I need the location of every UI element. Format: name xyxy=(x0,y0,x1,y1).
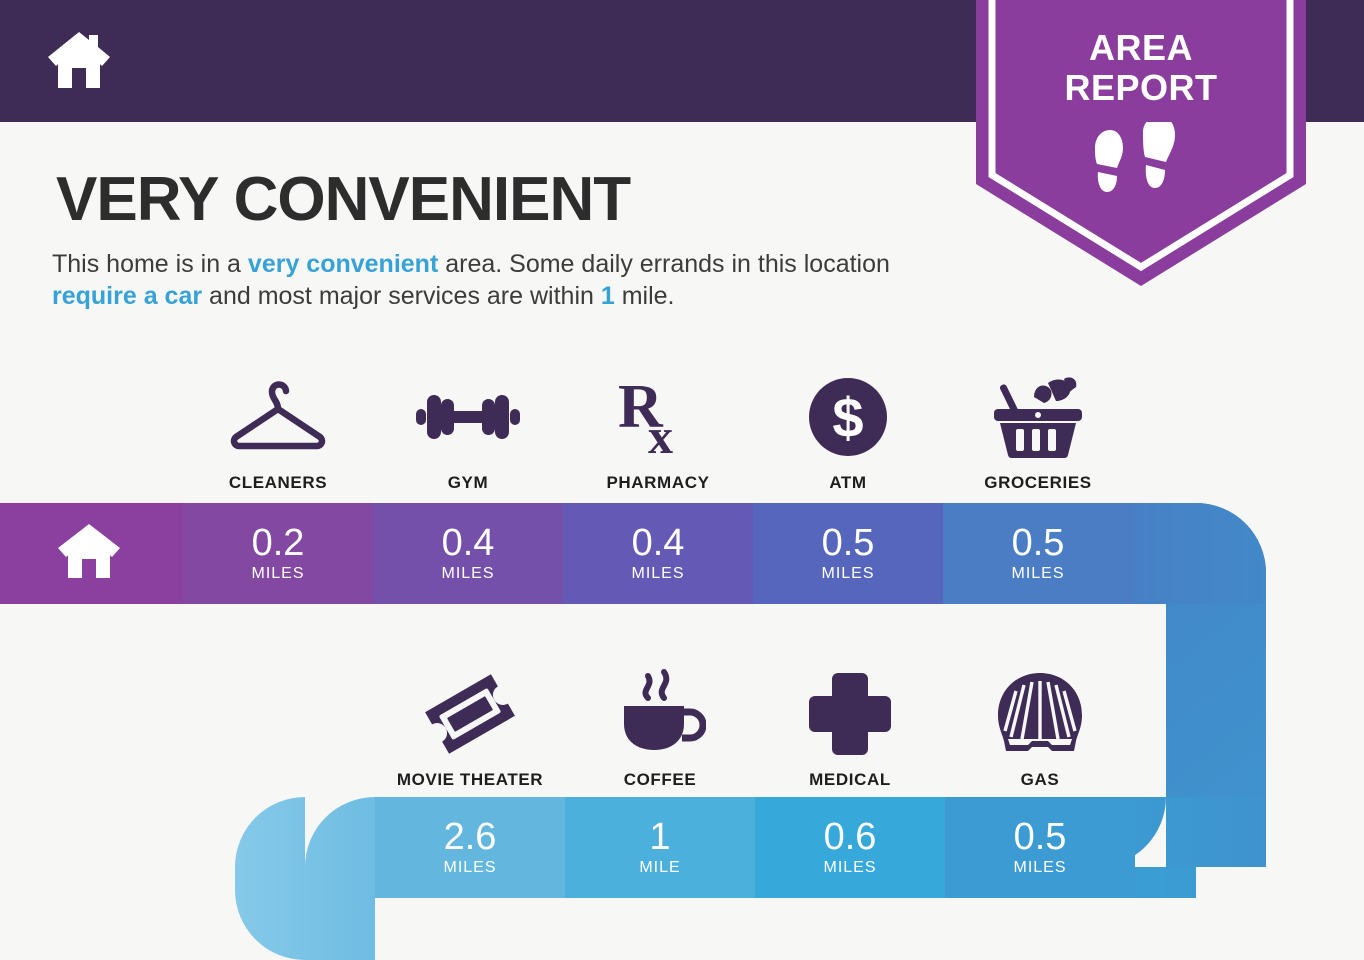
coffee-icon xyxy=(614,668,706,760)
icon-label: CLEANERS xyxy=(229,473,327,493)
ticket-icon xyxy=(422,668,518,760)
dollar-icon: $ xyxy=(807,371,889,463)
icon-label: PHARMACY xyxy=(606,473,709,493)
subtitle-text: This home is in a xyxy=(52,250,248,278)
dumbbell-icon xyxy=(414,371,522,463)
hanger-icon xyxy=(228,371,328,463)
distance-cell-medical[interactable]: 0.6 MILES xyxy=(755,797,945,898)
icon-cell-cleaners[interactable]: CLEANERS xyxy=(183,358,373,493)
icon-label: GROCERIES xyxy=(984,473,1091,493)
icon-row-bottom: MOVIE THEATER COFFEE MEDICAL xyxy=(375,650,1135,790)
icon-cell-coffee[interactable]: COFFEE xyxy=(565,650,755,790)
distance-value: 0.6 xyxy=(824,818,877,856)
distance-value: 0.5 xyxy=(1012,524,1065,562)
icon-cell-pharmacy[interactable]: R x PHARMACY xyxy=(563,358,753,493)
shell-icon xyxy=(996,668,1084,760)
svg-text:$: $ xyxy=(832,386,863,449)
icon-cell-groceries[interactable]: GROCERIES xyxy=(943,358,1133,493)
distance-cell-groceries[interactable]: 0.5 MILES xyxy=(943,503,1133,604)
badge-title-line: AREA xyxy=(1089,27,1193,68)
subtitle-text: and most major services are within xyxy=(202,282,601,310)
distance-cell-atm[interactable]: 0.5 MILES xyxy=(753,503,943,604)
icon-label: GYM xyxy=(448,473,489,493)
distance-value: 0.4 xyxy=(632,524,685,562)
svg-text:x: x xyxy=(648,408,673,459)
distance-value: 1 xyxy=(649,818,670,856)
footprints-icon xyxy=(1081,122,1201,212)
distance-cell-cleaners[interactable]: 0.2 MILES xyxy=(183,503,373,604)
icon-label: MEDICAL xyxy=(809,770,891,790)
distance-value: 2.6 xyxy=(444,818,497,856)
distance-value: 0.5 xyxy=(1014,818,1067,856)
basket-icon xyxy=(990,371,1086,463)
distance-row-top: 0.2 MILES 0.4 MILES 0.4 MILES 0.5 MILES … xyxy=(183,503,1143,604)
icon-cell-movie-theater[interactable]: MOVIE THEATER xyxy=(375,650,565,790)
distance-row-bottom: 2.6 MILES 1 MILE 0.6 MILES 0.5 MILES xyxy=(375,797,1135,898)
page-subtitle: This home is in a very convenient area. … xyxy=(52,248,962,312)
distance-cell-gym[interactable]: 0.4 MILES xyxy=(373,503,563,604)
badge-title-line: REPORT xyxy=(1064,67,1217,108)
distance-cell-gas[interactable]: 0.5 MILES xyxy=(945,797,1135,898)
icon-cell-gym[interactable]: GYM xyxy=(373,358,563,493)
icon-label: ATM xyxy=(829,473,866,493)
icon-row-top: CLEANERS GYM R x PH xyxy=(183,358,1143,493)
distance-unit: MILES xyxy=(1013,858,1066,878)
rx-icon: R x xyxy=(614,371,702,463)
distance-unit: MILES xyxy=(631,564,684,584)
icon-label: GAS xyxy=(1021,770,1060,790)
subtitle-text: area. Some daily errands in this locatio… xyxy=(438,250,890,278)
distance-cell-pharmacy[interactable]: 0.4 MILES xyxy=(563,503,753,604)
subtitle-highlight: 1 xyxy=(601,282,615,310)
distance-unit: MILES xyxy=(821,564,874,584)
icon-cell-medical[interactable]: MEDICAL xyxy=(755,650,945,790)
cross-icon xyxy=(807,668,893,760)
icon-cell-gas[interactable]: GAS xyxy=(945,650,1135,790)
area-report-badge: AREAREPORT xyxy=(976,0,1306,286)
icon-cell-atm[interactable]: $ ATM xyxy=(753,358,943,493)
distance-unit: MILES xyxy=(441,564,494,584)
badge-title: AREAREPORT xyxy=(976,28,1306,108)
ribbon-home-icon xyxy=(57,522,121,580)
distance-unit: MILES xyxy=(251,564,304,584)
distance-unit: MILE xyxy=(639,858,680,878)
distance-value: 0.2 xyxy=(252,524,305,562)
home-icon xyxy=(46,30,112,90)
subtitle-highlight: very convenient xyxy=(248,250,438,278)
distance-value: 0.5 xyxy=(822,524,875,562)
subtitle-text: mile. xyxy=(615,282,675,310)
distance-unit: MILES xyxy=(823,858,876,878)
icon-label: COFFEE xyxy=(624,770,697,790)
page-title: VERY CONVENIENT xyxy=(56,166,630,234)
distance-unit: MILES xyxy=(1011,564,1064,584)
icon-label: MOVIE THEATER xyxy=(397,770,543,790)
distance-cell-coffee[interactable]: 1 MILE xyxy=(565,797,755,898)
distance-value: 0.4 xyxy=(442,524,495,562)
distance-cell-movie-theater[interactable]: 2.6 MILES xyxy=(375,797,565,898)
distance-unit: MILES xyxy=(443,858,496,878)
subtitle-highlight: require a car xyxy=(52,282,202,310)
